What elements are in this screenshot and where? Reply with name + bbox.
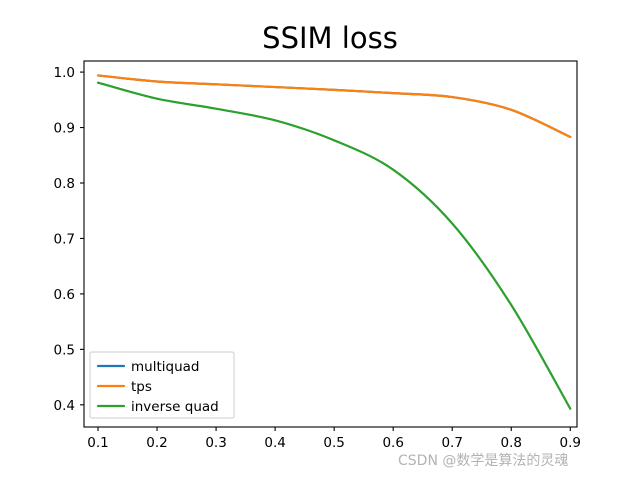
x-tick-label: 0.3 <box>205 435 226 451</box>
y-tick-label: 0.8 <box>54 176 75 192</box>
x-tick-label: 0.2 <box>146 435 167 451</box>
ssim-loss-line-chart: SSIM loss 0.40.50.60.70.80.91.0 0.10.20.… <box>0 0 640 480</box>
legend[interactable]: multiquadtpsinverse quad <box>90 352 234 418</box>
x-tick-label: 0.8 <box>501 435 522 451</box>
x-tick-label: 0.6 <box>382 435 403 451</box>
x-tick-label: 0.4 <box>264 435 285 451</box>
chart-title: SSIM loss <box>262 21 398 55</box>
y-tick-label: 1.0 <box>54 65 75 81</box>
y-tick-label: 0.5 <box>54 342 75 358</box>
y-tick-label: 0.4 <box>54 398 75 414</box>
y-tick-label: 0.9 <box>54 121 75 137</box>
x-tick-label: 0.1 <box>87 435 108 451</box>
x-tick-label: 0.7 <box>441 435 462 451</box>
csdn-watermark: CSDN @数学是算法的灵魂 <box>398 453 568 469</box>
legend-label-tps: tps <box>131 379 152 395</box>
legend-label-inverse-quad: inverse quad <box>131 399 219 415</box>
matplotlib-figure: SSIM loss 0.40.50.60.70.80.91.0 0.10.20.… <box>0 0 640 480</box>
y-tick-label: 0.6 <box>54 287 75 303</box>
y-tick-label: 0.7 <box>54 231 75 247</box>
x-tick-label: 0.5 <box>323 435 344 451</box>
legend-label-multiquad: multiquad <box>131 359 199 375</box>
x-tick-label: 0.9 <box>560 435 581 451</box>
